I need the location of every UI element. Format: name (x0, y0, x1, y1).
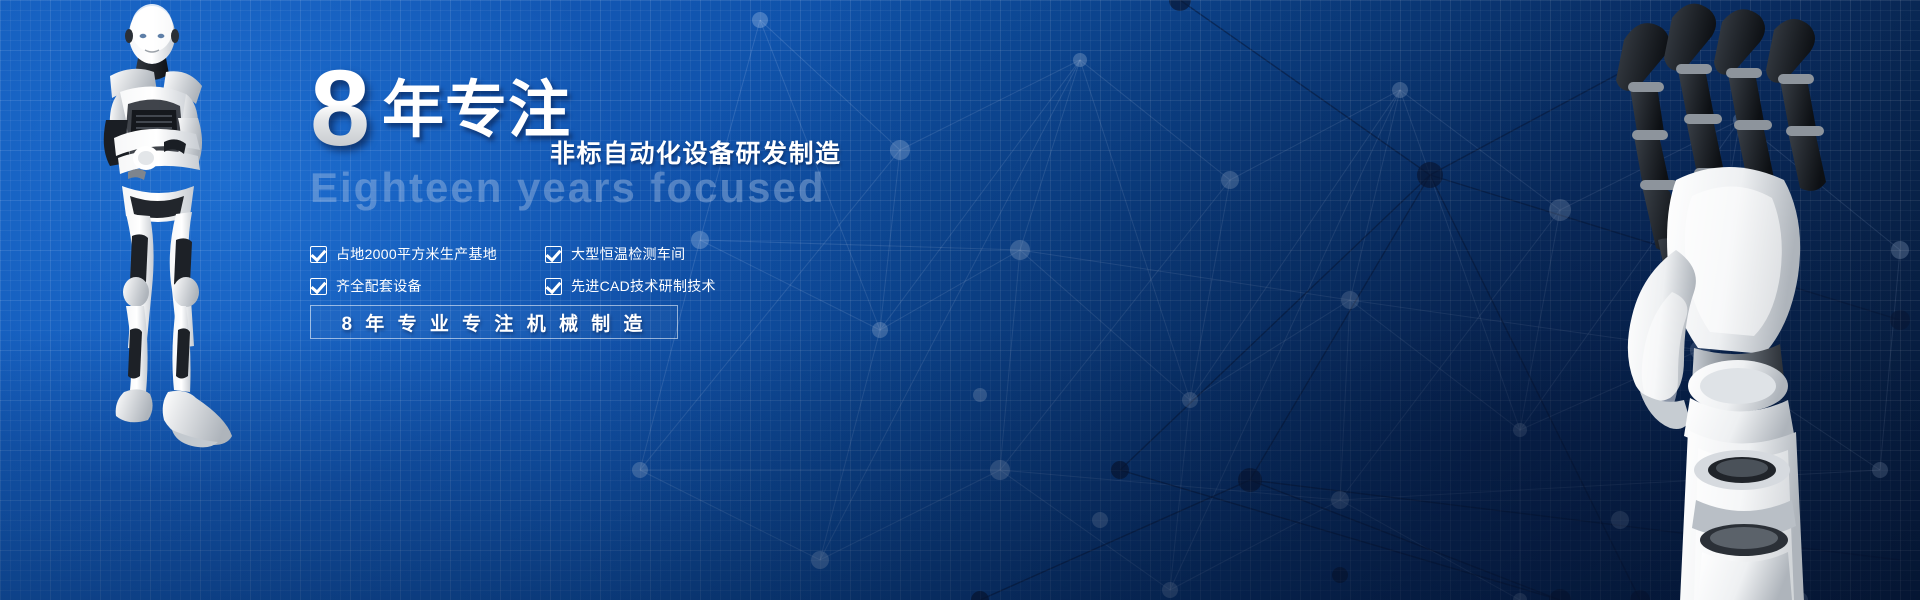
slogan-text: 8 年 专 业 专 注 机 械 制 造 (341, 309, 646, 336)
feature-label: 齐全配套设备 (336, 276, 422, 296)
list-item: 占地2000平方米生产基地 (310, 238, 545, 270)
list-item: 先进CAD技术研制技术 (545, 270, 780, 302)
list-item: 齐全配套设备 (310, 270, 545, 302)
list-item: 大型恒温检测车间 (545, 238, 780, 270)
english-tagline: Eighteen years focused (310, 164, 826, 212)
banner-copy-block: 8 年专注 非标自动化设备研发制造 Eighteen years focused… (310, 68, 1070, 154)
headline-chinese: 年专注 (382, 80, 571, 142)
feature-label: 先进CAD技术研制技术 (571, 276, 716, 296)
feature-list: 占地2000平方米生产基地 大型恒温检测车间 齐全配套设备 先进CAD技术研制技… (310, 238, 780, 302)
check-box-icon (310, 278, 327, 295)
check-box-icon (545, 278, 562, 295)
feature-label: 大型恒温检测车间 (571, 244, 685, 264)
promo-banner: 8 年专注 非标自动化设备研发制造 Eighteen years focused… (0, 0, 1920, 600)
slogan-box: 8 年 专 业 专 注 机 械 制 造 (310, 305, 678, 339)
robotic-hand-illustration (1580, 0, 1920, 600)
check-box-icon (310, 246, 327, 263)
check-box-icon (545, 246, 562, 263)
feature-label: 占地2000平方米生产基地 (336, 244, 497, 264)
humanoid-robot-illustration (72, 0, 262, 490)
headline-row: 8 年专注 非标自动化设备研发制造 (310, 68, 1070, 154)
headline-number: 8 (310, 54, 368, 162)
